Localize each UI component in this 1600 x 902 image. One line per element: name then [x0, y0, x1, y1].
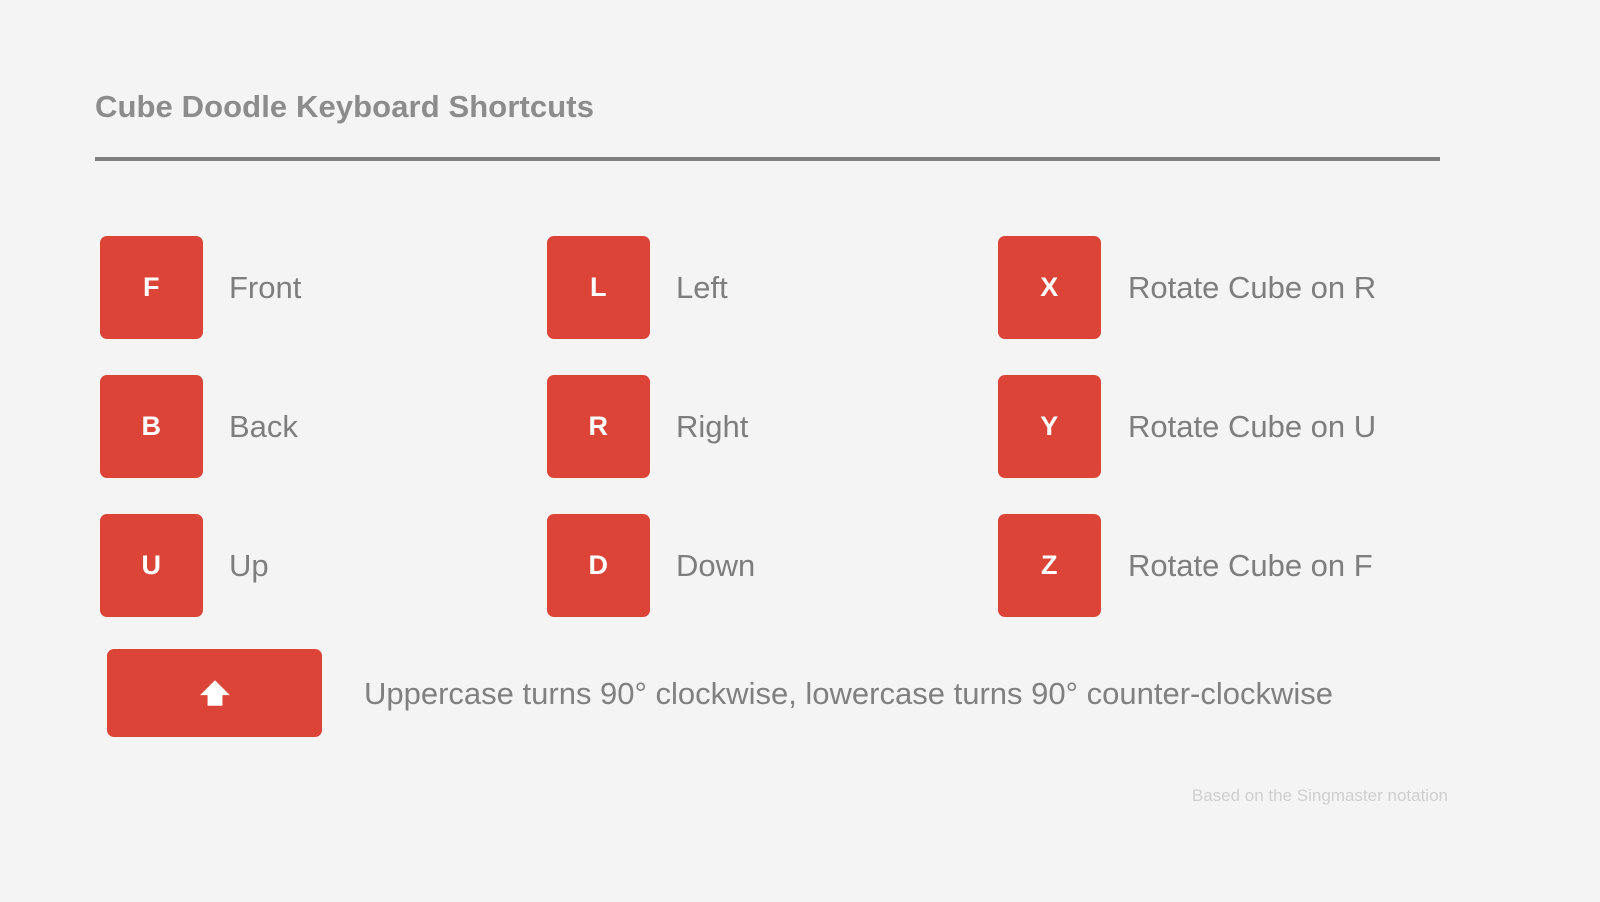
shortcut-column-1: F Front B Back U Up [100, 218, 301, 635]
shortcut-column-3: X Rotate Cube on R Y Rotate Cube on U Z … [998, 218, 1376, 635]
shortcut-label: Rotate Cube on U [1128, 411, 1376, 442]
keycap-f[interactable]: F [100, 236, 203, 339]
shortcut-label: Down [676, 550, 755, 581]
shortcut-row[interactable]: F Front [100, 218, 301, 357]
keycap-letter: Z [1041, 552, 1058, 579]
keycap-d[interactable]: D [547, 514, 650, 617]
keycap-letter: X [1040, 274, 1059, 301]
keycap-b[interactable]: B [100, 375, 203, 478]
shortcut-label: Rotate Cube on F [1128, 550, 1373, 581]
keycap-letter: F [143, 274, 160, 301]
keycap-u[interactable]: U [100, 514, 203, 617]
shortcut-label: Front [229, 272, 301, 303]
keycap-z[interactable]: Z [998, 514, 1101, 617]
shortcut-row[interactable]: Z Rotate Cube on F [998, 496, 1376, 635]
keycap-y[interactable]: Y [998, 375, 1101, 478]
keycap-letter: U [142, 552, 162, 579]
shortcut-row[interactable]: Y Rotate Cube on U [998, 357, 1376, 496]
shortcut-row[interactable]: B Back [100, 357, 301, 496]
shortcut-label: Rotate Cube on R [1128, 272, 1376, 303]
shift-shortcut-row[interactable]: Uppercase turns 90° clockwise, lowercase… [107, 649, 1333, 737]
shortcut-label: Up [229, 550, 269, 581]
footer-note: Based on the Singmaster notation [1192, 786, 1448, 806]
shortcut-row[interactable]: D Down [547, 496, 755, 635]
shift-up-arrow-icon [198, 676, 232, 710]
shortcut-label: Left [676, 272, 728, 303]
shortcut-row[interactable]: X Rotate Cube on R [998, 218, 1376, 357]
keycap-r[interactable]: R [547, 375, 650, 478]
keycap-l[interactable]: L [547, 236, 650, 339]
keycap-letter: R [589, 413, 609, 440]
keycap-letter: L [590, 274, 607, 301]
shortcut-row[interactable]: U Up [100, 496, 301, 635]
shift-note-label: Uppercase turns 90° clockwise, lowercase… [364, 678, 1333, 709]
keycap-x[interactable]: X [998, 236, 1101, 339]
keycap-letter: Y [1040, 413, 1059, 440]
shortcut-label: Right [676, 411, 748, 442]
keycap-shift[interactable] [107, 649, 322, 737]
keycap-letter: B [142, 413, 162, 440]
shortcut-label: Back [229, 411, 298, 442]
keyboard-shortcuts-overlay: Cube Doodle Keyboard Shortcuts F Front B… [0, 0, 1600, 902]
shortcut-row[interactable]: R Right [547, 357, 755, 496]
keycap-letter: D [589, 552, 609, 579]
shortcut-column-2: L Left R Right D Down [547, 218, 755, 635]
shortcut-grid: F Front B Back U Up L [0, 0, 1600, 902]
shortcut-row[interactable]: L Left [547, 218, 755, 357]
